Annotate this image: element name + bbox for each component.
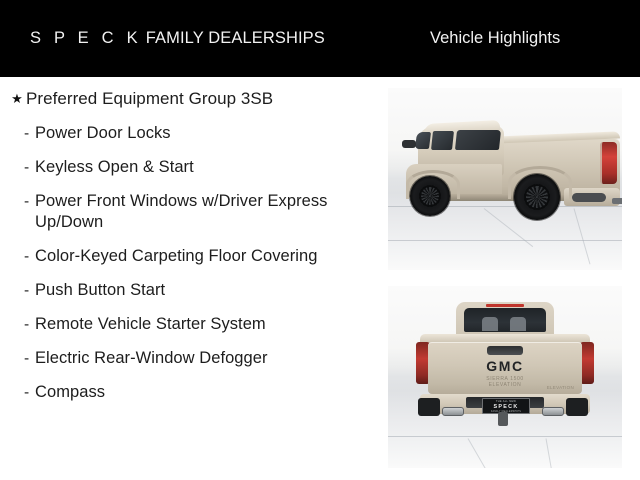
truck-hitch-receiver	[498, 412, 508, 426]
list-item: - Color-Keyed Carpeting Floor Covering	[0, 246, 380, 267]
list-item: - Push Button Start	[0, 280, 380, 301]
floor-line	[388, 436, 622, 437]
vehicle-photo-column: GMC SIERRA 1500 ELEVATION ELEVATION THE …	[388, 88, 622, 468]
truck-rear-wheel	[514, 174, 560, 220]
truck-tailgate-handle	[487, 346, 523, 355]
brand-wordmark: S P E C KFAMILY DEALERSHIPS	[30, 28, 325, 48]
dash-icon: -	[24, 382, 35, 403]
truck-bumper-corner-pad	[566, 398, 588, 416]
list-item-label: Electric Rear-Window Defogger	[35, 348, 370, 369]
header-bar: S P E C KFAMILY DEALERSHIPS Vehicle High…	[0, 0, 640, 77]
dash-icon: -	[24, 123, 35, 144]
list-item: - Keyless Open & Start	[0, 157, 380, 178]
brand-family-text: FAMILY DEALERSHIPS	[146, 29, 325, 47]
truck-headrest	[510, 317, 526, 331]
truck-front-wheel	[410, 176, 450, 216]
truck-headrest	[482, 317, 498, 331]
list-item: - Power Front Windows w/Driver Express U…	[0, 191, 380, 233]
truck-taillight-right	[580, 342, 594, 384]
dash-icon: -	[24, 280, 35, 301]
brand-speck-text: S P E C K	[30, 29, 142, 47]
truck-center-brake-light	[486, 304, 524, 307]
dash-icon: -	[24, 191, 35, 212]
list-item: - Remote Vehicle Starter System	[0, 314, 380, 335]
truck-front-door-window	[415, 132, 431, 149]
truck-exhaust-tip-right	[542, 407, 564, 416]
gmc-badge: GMC	[474, 358, 536, 374]
list-item-label: Keyless Open & Start	[35, 157, 370, 178]
trim-script-badge: ELEVATION	[536, 385, 574, 390]
section-title: Vehicle Highlights	[430, 28, 560, 48]
list-item-label: Power Front Windows w/Driver Express Up/…	[35, 191, 370, 233]
dash-icon: -	[24, 157, 35, 178]
vehicle-photo-rear-view: GMC SIERRA 1500 ELEVATION ELEVATION THE …	[388, 286, 622, 468]
list-item-label: Compass	[35, 382, 370, 403]
truck-side-illustration	[396, 112, 618, 242]
dash-icon: -	[24, 246, 35, 267]
list-item-label: Color-Keyed Carpeting Floor Covering	[35, 246, 370, 267]
truck-taillight	[600, 142, 617, 184]
feature-list: ★ Preferred Equipment Group 3SB - Power …	[0, 77, 380, 480]
list-item: - Compass	[0, 382, 380, 403]
truck-back-door-window	[431, 131, 454, 150]
vehicle-photo-side-view	[388, 88, 622, 270]
truck-exhaust-tip-left	[442, 407, 464, 416]
truck-rear-window	[464, 308, 546, 332]
dash-icon: -	[24, 314, 35, 335]
feature-group-heading: ★ Preferred Equipment Group 3SB	[0, 87, 380, 110]
truck-rear-side-window	[455, 130, 501, 150]
list-item: - Electric Rear-Window Defogger	[0, 348, 380, 369]
truck-rear-illustration: GMC SIERRA 1500 ELEVATION ELEVATION THE …	[414, 302, 596, 434]
truck-exhaust-tip	[612, 198, 622, 204]
list-item: - Power Door Locks	[0, 123, 380, 144]
truck-bumper-recess	[572, 193, 606, 202]
star-icon: ★	[8, 87, 26, 110]
list-item-label: Remote Vehicle Starter System	[35, 314, 370, 335]
truck-side-mirror	[402, 140, 416, 148]
list-item-label: Power Door Locks	[35, 123, 370, 144]
list-item-label: Push Button Start	[35, 280, 370, 301]
sierra-script-badge: SIERRA 1500 ELEVATION	[472, 376, 538, 388]
dash-icon: -	[24, 348, 35, 369]
truck-bumper-corner-pad	[418, 398, 440, 416]
feature-group-label: Preferred Equipment Group 3SB	[26, 87, 370, 110]
